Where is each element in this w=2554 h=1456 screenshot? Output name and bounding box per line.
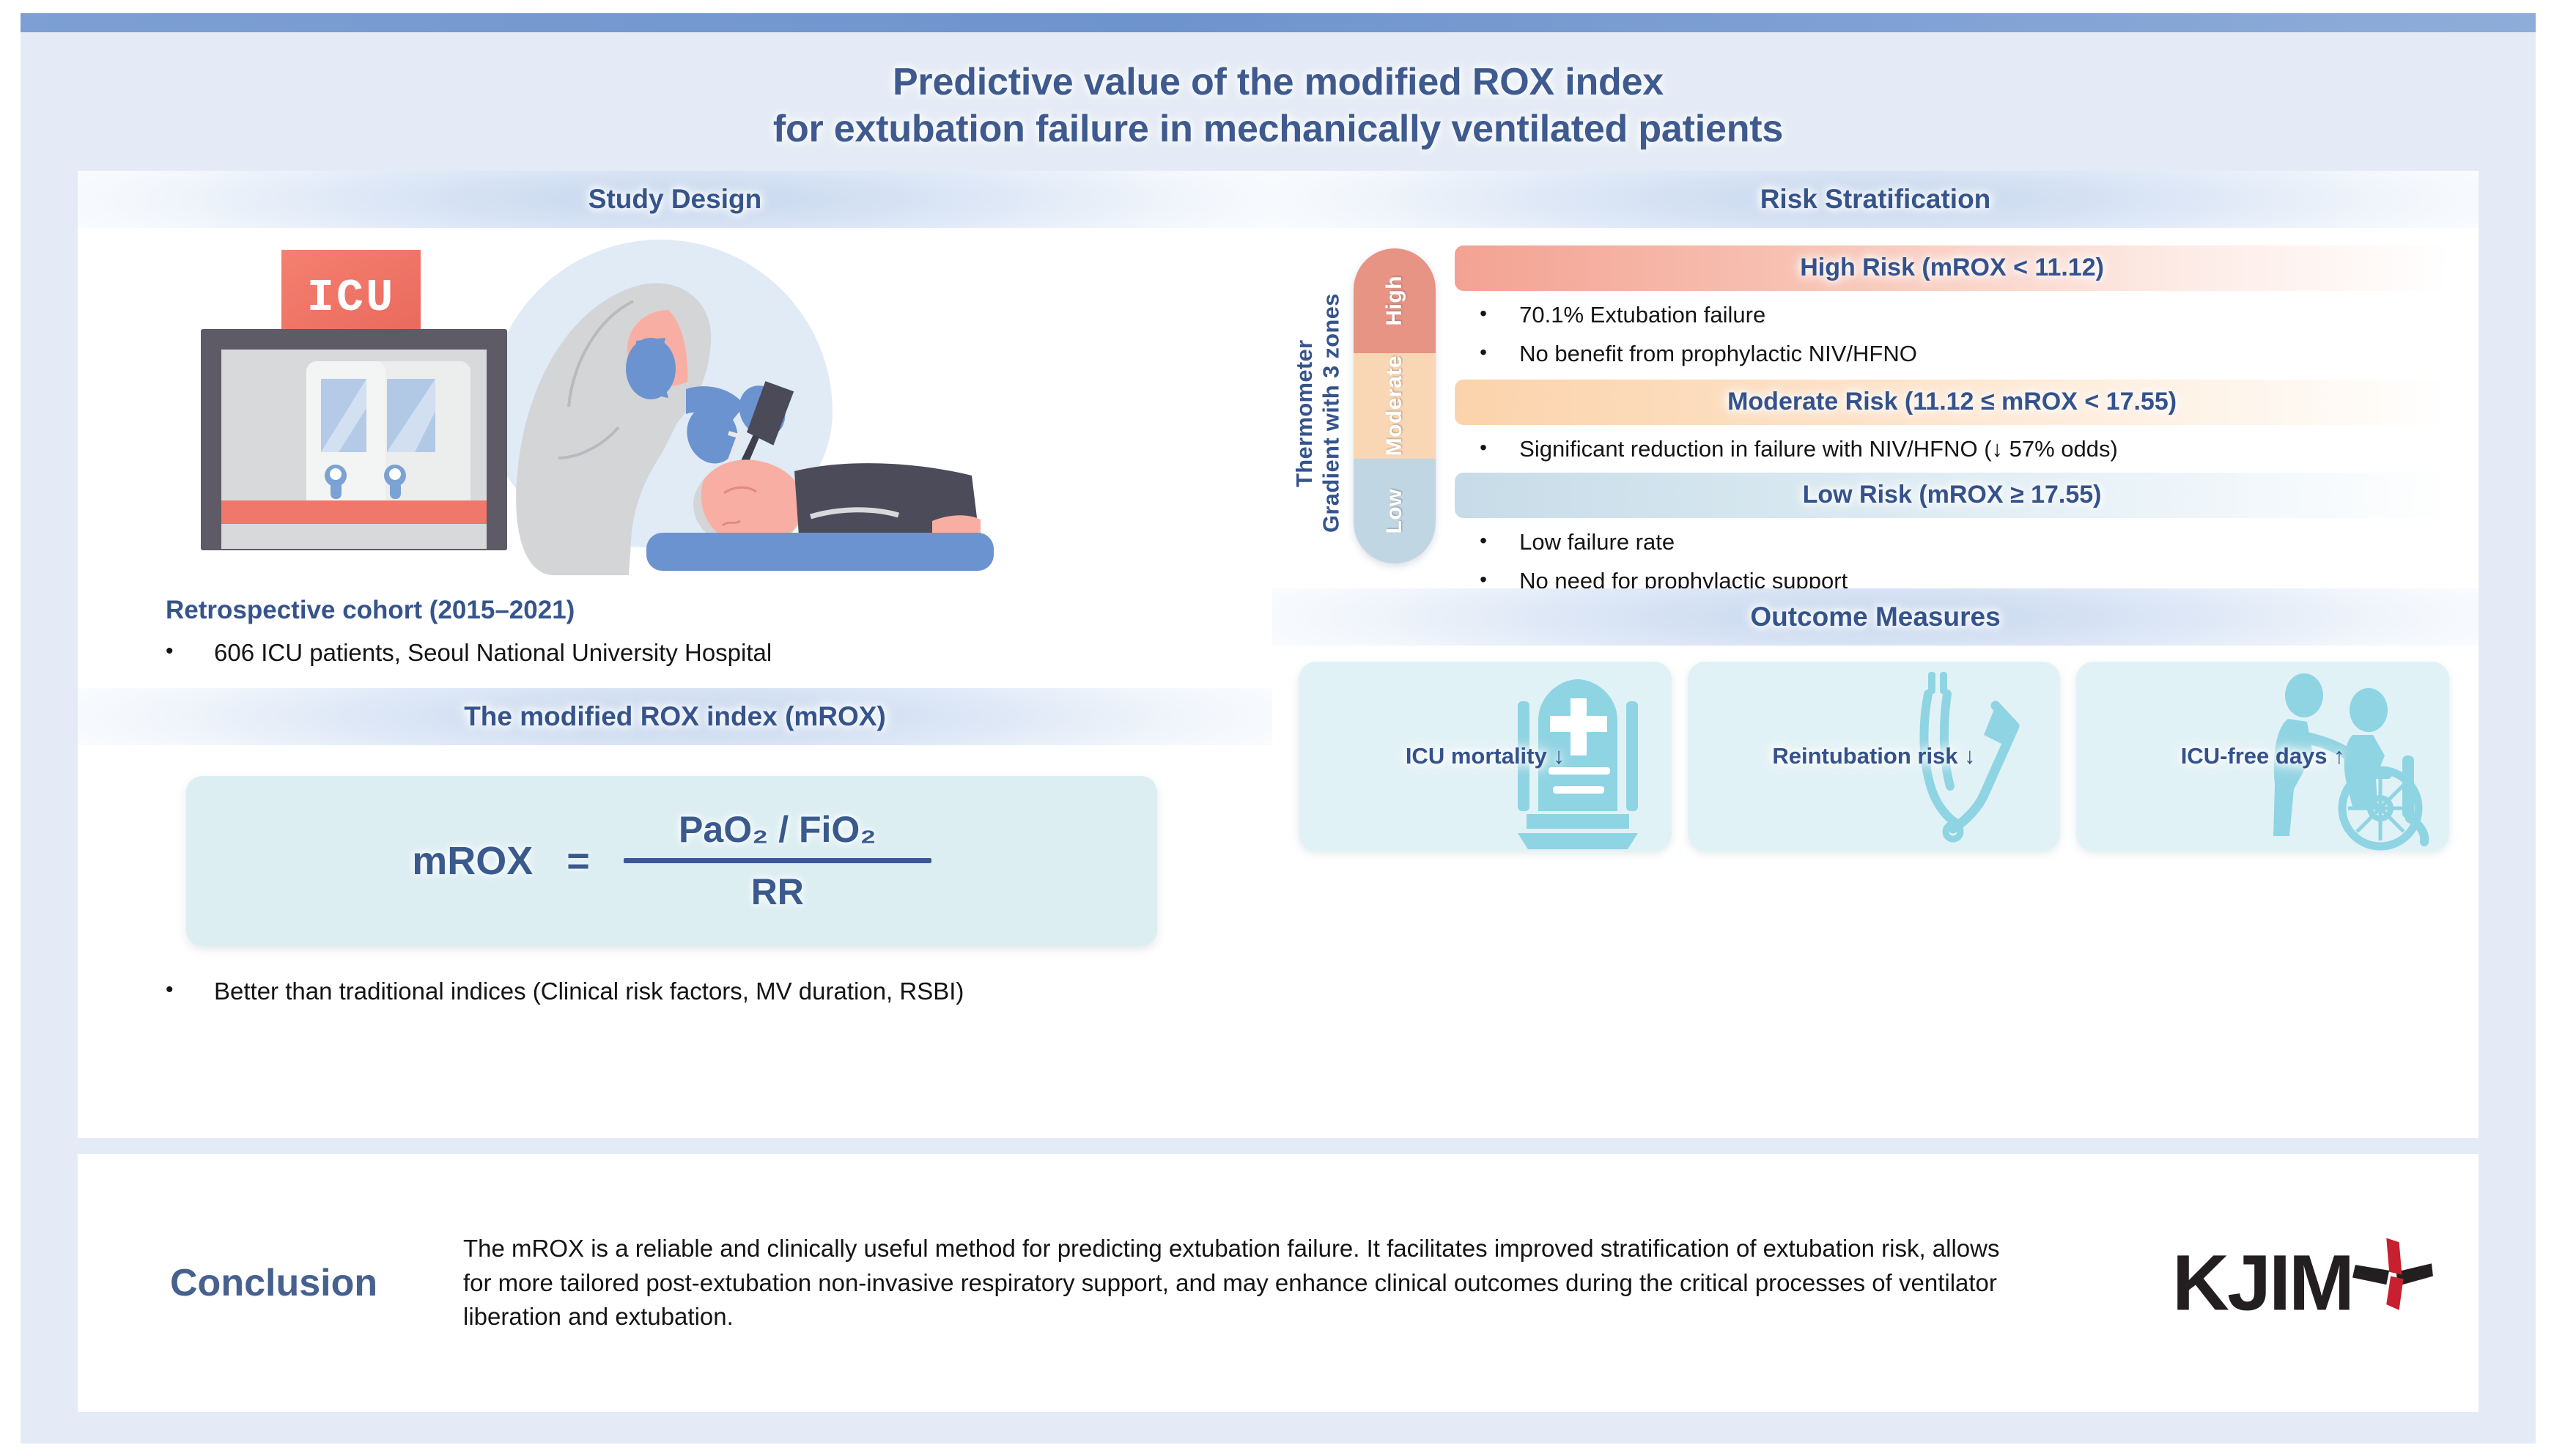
title-line-2: for extubation failure in mechanically v…: [167, 106, 2389, 152]
main-content-card: Study Design ICU: [78, 171, 2479, 1138]
risk-banner-moderate: Moderate Risk (11.12 ≤ mROX < 17.55): [1455, 380, 2449, 425]
study-design-bullet: • 606 ICU patients, Seoul National Unive…: [78, 637, 1272, 669]
thermometer-zone-low: Low: [1354, 459, 1436, 563]
formula-numerator: PaO₂ / FiO₂: [657, 805, 898, 854]
title-line-1: Predictive value of the modified ROX ind…: [167, 59, 2389, 106]
study-design-lead: Retrospective cohort (2015–2021): [78, 596, 1272, 625]
bullet-marker: •: [1480, 435, 1519, 464]
left-column: Study Design ICU: [78, 171, 1272, 1138]
thermometer-zone-label: Moderate: [1382, 355, 1407, 456]
kjim-logo: KJIM: [2172, 1246, 2435, 1321]
bullet-marker: •: [166, 637, 214, 669]
risk-tier-list: High Risk (mROX < 11.12) • 70.1% Extubat…: [1436, 244, 2449, 572]
outcome-card-label: Reintubation risk ↓: [1765, 743, 1982, 769]
thermometer-label-line-1: Thermometer: [1291, 254, 1318, 572]
outcome-card-icu-mortality[interactable]: ICU mortality ↓: [1299, 662, 1672, 851]
section-header-risk-stratification: Risk Stratification: [1272, 171, 2479, 228]
thermometer-zone-moderate: Moderate: [1354, 353, 1436, 458]
risk-banner-label: Moderate Risk (11.12 ≤ mROX < 17.55): [1727, 388, 2177, 416]
thermometer-gauge: High Moderate Low: [1354, 248, 1436, 563]
formula-equals: =: [566, 838, 590, 884]
risk-banner-high: High Risk (mROX < 11.12): [1455, 245, 2449, 291]
conclusion-text: The mROX is a reliable and clinically us…: [463, 1232, 2024, 1335]
risk-stratification-heading: Risk Stratification: [1760, 184, 1991, 215]
page-title: Predictive value of the modified ROX ind…: [21, 32, 2536, 171]
risk-banner-label: High Risk (mROX < 11.12): [1800, 254, 2104, 282]
outcome-card-reintubation-risk[interactable]: Reintubation risk ↓: [1688, 662, 2061, 851]
thermometer-zone-high: High: [1354, 248, 1436, 353]
bullet-text: 70.1% Extubation failure: [1519, 300, 2449, 330]
risk-bullet: • No benefit from prophylactic NIV/HFNO: [1455, 339, 2449, 369]
mrox-heading: The modified ROX index (mROX): [464, 701, 886, 732]
outcome-measures-cards: ICU mortality ↓ Reintubation risk ↓: [1272, 646, 2479, 851]
outcome-measures-heading: Outcome Measures: [1750, 602, 2000, 632]
formula-denominator: RR: [729, 868, 826, 916]
bullet-text: 606 ICU patients, Seoul National Univers…: [214, 637, 1167, 669]
bullet-marker: •: [166, 975, 214, 1008]
outcome-card-icu-free-days[interactable]: ICU-free days ↑: [2076, 662, 2449, 851]
outcome-card-label: ICU-free days ↑: [2174, 743, 2352, 769]
risk-bullet: • Low failure rate: [1455, 528, 2449, 557]
risk-bullet: • Significant reduction in failure with …: [1455, 435, 2449, 464]
intubation-scene-icon: [466, 238, 1067, 583]
study-design-heading: Study Design: [588, 184, 761, 215]
mrox-bullet: • Better than traditional indices (Clini…: [78, 975, 1272, 1008]
formula-lhs: mROX: [412, 838, 533, 884]
bullet-text: No benefit from prophylactic NIV/HFNO: [1519, 339, 2449, 369]
poster-frame: Predictive value of the modified ROX ind…: [21, 13, 2536, 1444]
risk-banner-label: Low Risk (mROX ≥ 17.55): [1803, 481, 2102, 509]
section-header-outcome-measures: Outcome Measures: [1272, 588, 2479, 646]
bullet-marker: •: [1480, 528, 1519, 557]
bullet-text: Significant reduction in failure with NI…: [1519, 435, 2384, 464]
risk-stratification-area: Thermometer Gradient with 3 zones High M…: [1272, 228, 2479, 572]
formula-fraction: PaO₂ / FiO₂ RR: [624, 805, 931, 916]
bullet-text: Better than traditional indices (Clinica…: [214, 975, 1167, 1008]
section-header-study-design: Study Design: [78, 171, 1272, 228]
risk-bullet: • 70.1% Extubation failure: [1455, 300, 2449, 330]
thermometer-zone-label: Low: [1382, 489, 1407, 534]
conclusion-title: Conclusion: [119, 1261, 463, 1305]
thermometer-axis-label: Thermometer Gradient with 3 zones: [1291, 254, 1345, 572]
kjim-logo-text: KJIM: [2172, 1246, 2352, 1321]
kjim-x-mark-icon: [2350, 1234, 2435, 1313]
risk-banner-low: Low Risk (mROX ≥ 17.55): [1455, 473, 2449, 518]
mrox-formula-box: mROX = PaO₂ / FiO₂ RR: [186, 776, 1157, 946]
bullet-marker: •: [1480, 300, 1519, 330]
thermometer-zone-label: High: [1382, 276, 1407, 326]
top-accent-bar: [21, 13, 2536, 32]
section-header-mrox: The modified ROX index (mROX): [78, 688, 1272, 745]
svg-text:ICU: ICU: [307, 272, 396, 324]
formula-divider-bar: [624, 858, 931, 863]
bullet-marker: •: [1480, 339, 1519, 369]
bullet-text: Low failure rate: [1519, 528, 2449, 557]
right-column: Risk Stratification Thermometer Gradient…: [1272, 171, 2479, 1138]
thermometer-label-line-2: Gradient with 3 zones: [1318, 254, 1346, 572]
conclusion-card: Conclusion The mROX is a reliable and cl…: [78, 1154, 2479, 1412]
outcome-card-label: ICU mortality ↓: [1398, 743, 1572, 769]
study-design-illustration: ICU: [78, 232, 1272, 591]
